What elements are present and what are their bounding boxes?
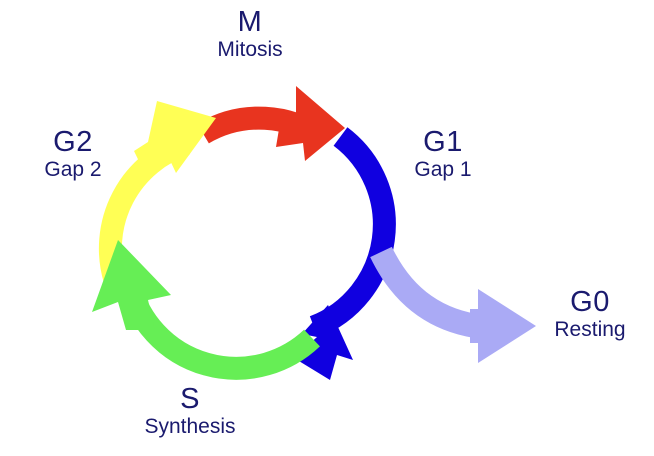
phase-label-g1: G1 Gap 1 — [378, 128, 508, 180]
phase-label-m: M Mitosis — [170, 8, 330, 60]
phase-label-g0: G0 Resting — [528, 288, 652, 340]
phase-arc-g0[interactable] — [381, 252, 536, 363]
phase-code-s: S — [105, 385, 275, 415]
phase-label-g2: G2 Gap 2 — [8, 128, 138, 180]
m-arrowhead-icon — [276, 86, 345, 161]
g2-arrowhead-icon — [134, 101, 216, 180]
phase-code-g1: G1 — [378, 128, 508, 158]
phase-arc-m[interactable] — [203, 86, 345, 161]
g0-arrowhead-icon — [470, 289, 536, 363]
cell-cycle-diagram: M Mitosis G2 Gap 2 G1 Gap 1 S Synthesis … — [0, 0, 654, 456]
phase-name-m: Mitosis — [170, 39, 330, 60]
g1-arc-band — [314, 137, 384, 328]
phase-code-m: M — [170, 8, 330, 38]
phase-name-s: Synthesis — [105, 416, 275, 437]
phase-code-g2: G2 — [8, 128, 138, 158]
phase-name-g1: Gap 1 — [378, 159, 508, 180]
phase-code-g0: G0 — [528, 288, 652, 318]
phase-label-s: S Synthesis — [105, 385, 275, 437]
s-arc-band — [130, 287, 312, 368]
phase-name-g0: Resting — [528, 319, 652, 340]
phase-arc-s[interactable] — [92, 240, 312, 368]
phase-name-g2: Gap 2 — [8, 159, 138, 180]
cycle-graphic — [0, 0, 654, 456]
g0-arc-band — [381, 252, 483, 327]
